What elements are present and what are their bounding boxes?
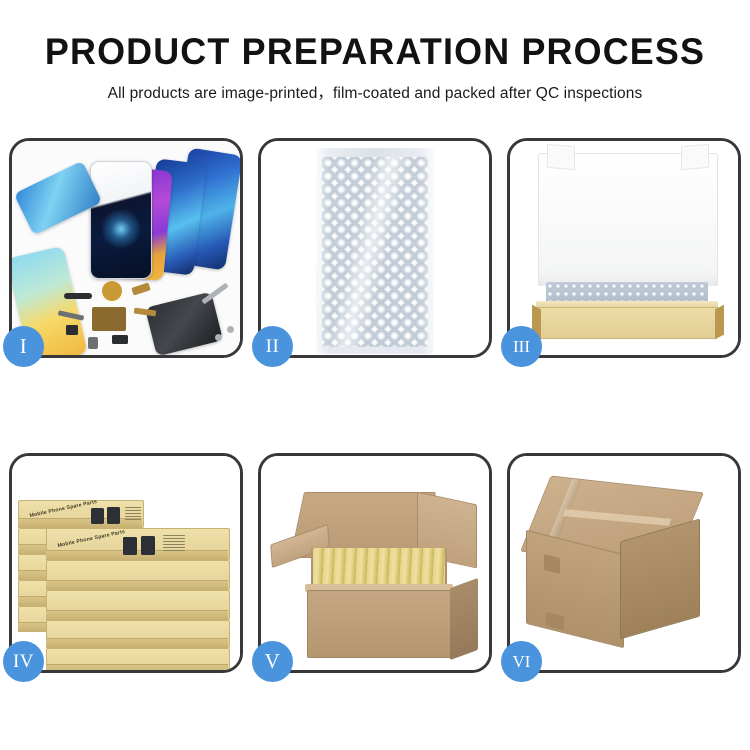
small-part-icon — [88, 337, 98, 349]
carton-body-icon — [307, 590, 453, 658]
step-badge-6: VI — [501, 641, 542, 682]
process-step-card-2[interactable]: II — [258, 138, 492, 358]
process-step-card-1[interactable]: I — [9, 138, 243, 358]
phone-back-housing-icon — [145, 292, 223, 355]
box-lid-open-icon — [538, 153, 718, 286]
box-label-front-1: Mobile Phone Spare Parts — [57, 529, 126, 549]
speaker-part-icon — [64, 293, 92, 299]
box-artwork-d — [141, 536, 155, 555]
page-header: PRODUCT PREPARATION PROCESS All products… — [0, 0, 750, 105]
bubble-edge-icon — [311, 148, 439, 354]
page-subtitle: All products are image-printed，film-coat… — [0, 83, 750, 105]
logic-board-icon — [92, 307, 126, 331]
adhesive-film-icon — [14, 161, 102, 236]
stacked-box-front-5 — [46, 648, 230, 670]
step-image-1 — [12, 141, 240, 355]
vibration-motor-icon — [112, 335, 128, 344]
screw-secondary-icon — [215, 334, 222, 341]
stacked-box-front-1: Mobile Phone Spare Parts — [46, 528, 230, 560]
scene-product-assortment — [12, 141, 240, 355]
scene-carton-loading — [261, 456, 489, 670]
process-step-card-4[interactable]: Mobile Phone Spare Parts Mobile Phone Sp… — [9, 453, 243, 673]
step-badge-4: IV — [3, 641, 44, 682]
step-image-6 — [510, 456, 738, 670]
step-image-2 — [261, 141, 489, 355]
process-step-grid: I II III — [9, 138, 741, 673]
stacked-box-front-4 — [46, 620, 230, 648]
process-step-card-6[interactable]: VI — [507, 453, 741, 673]
box-artwork-c — [123, 537, 137, 555]
flex-cable-icon — [131, 282, 151, 295]
scene-carton-sealed — [510, 456, 738, 670]
step-badge-5: V — [252, 641, 293, 682]
box-front-panel-icon — [538, 307, 718, 339]
stacked-box-front-2 — [46, 560, 230, 590]
screw-icon — [227, 326, 234, 333]
camera-module-icon — [66, 325, 78, 335]
box-spec-lines-2 — [163, 535, 185, 553]
step-image-4: Mobile Phone Spare Parts Mobile Phone Sp… — [12, 456, 240, 670]
stacked-box-front-3 — [46, 590, 230, 620]
scene-boxes-stacked: Mobile Phone Spare Parts Mobile Phone Sp… — [12, 456, 240, 670]
step-image-3 — [510, 141, 738, 355]
box-artwork-b — [107, 507, 120, 524]
screen-glass-icon — [90, 161, 152, 279]
box-label-rear-1: Mobile Phone Spare Parts — [29, 499, 98, 519]
box-artwork-a — [91, 508, 104, 524]
coil-part-icon — [102, 281, 122, 301]
step-badge-1: I — [3, 326, 44, 367]
box-spec-lines-1 — [125, 507, 141, 522]
stacked-box-rear-1: Mobile Phone Spare Parts — [18, 500, 144, 528]
process-step-card-5[interactable]: V — [258, 453, 492, 673]
page-title: PRODUCT PREPARATION PROCESS — [11, 30, 739, 74]
step-badge-2: II — [252, 326, 293, 367]
scene-inner-box-packing — [510, 141, 738, 355]
scene-bubble-wrapping — [261, 141, 489, 355]
step-badge-3: III — [501, 326, 542, 367]
process-step-card-3[interactable]: III — [507, 138, 741, 358]
step-image-5 — [261, 456, 489, 670]
